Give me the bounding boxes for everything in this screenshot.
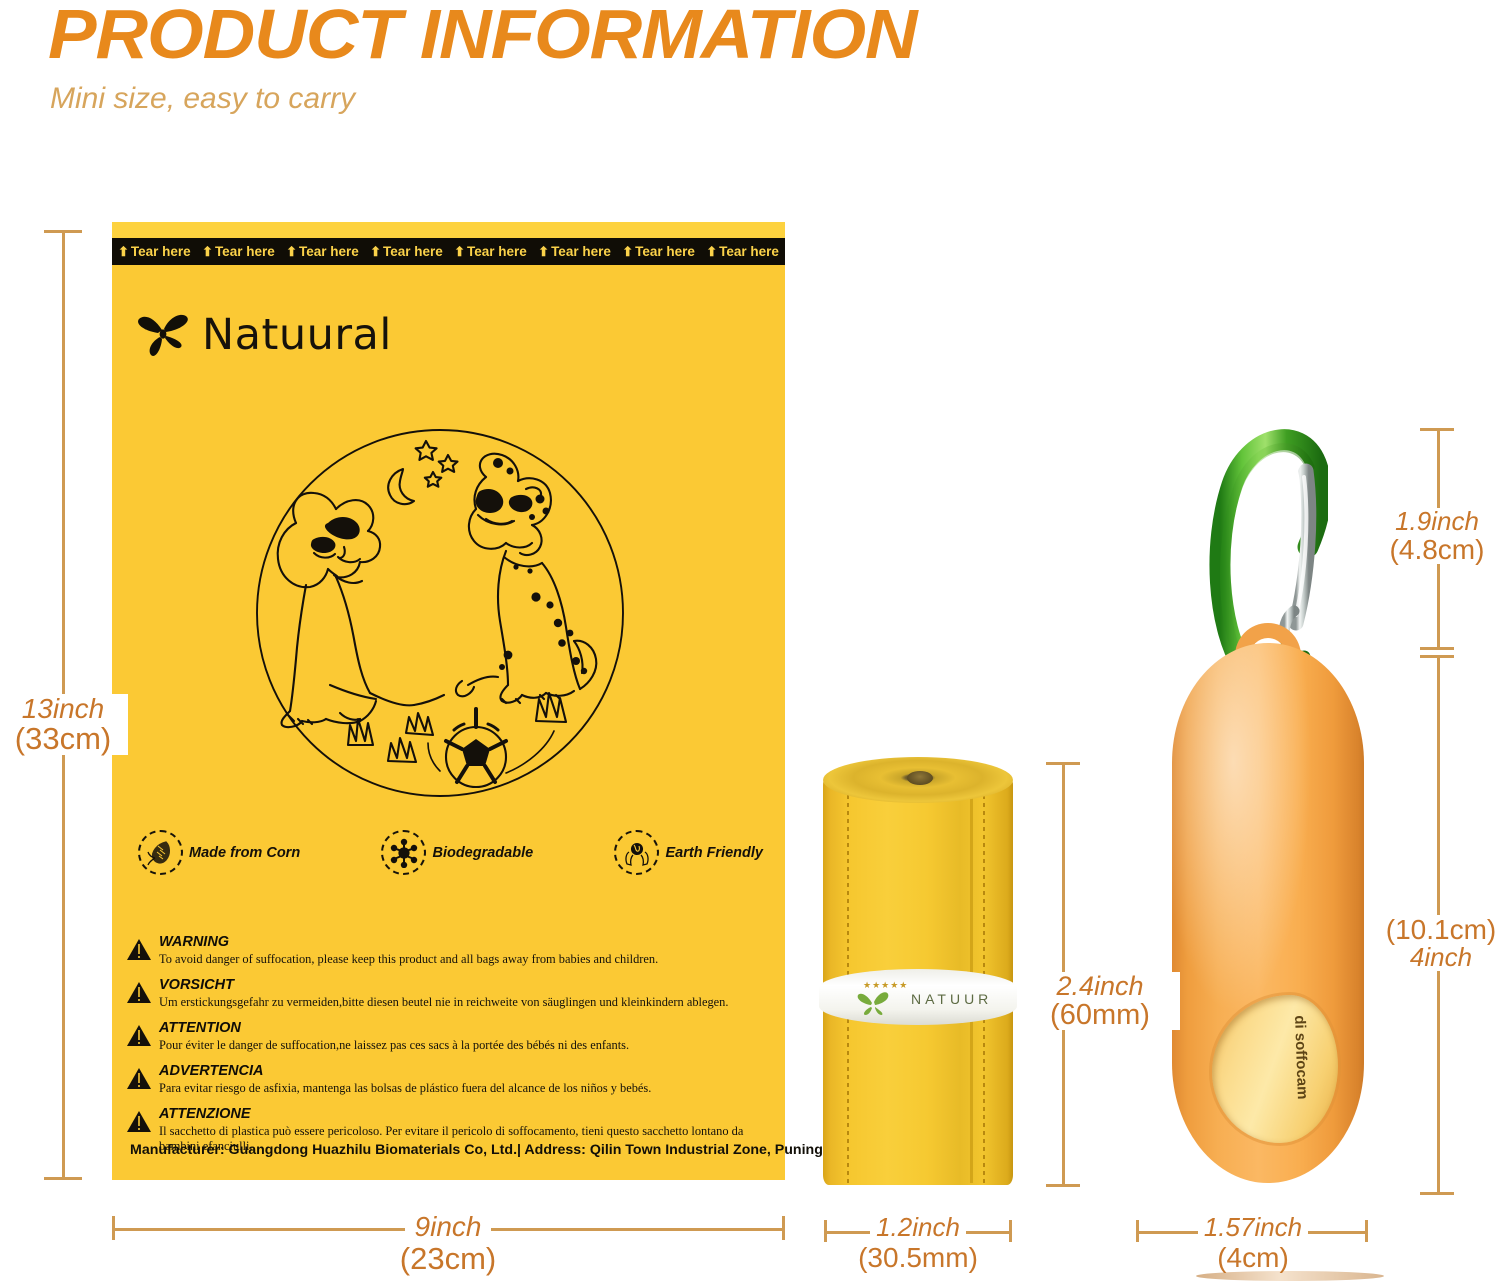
- dim-inch: 13inch: [0, 694, 128, 723]
- warning-body: Pour éviter le danger de suffocation,ne …: [159, 1038, 629, 1053]
- roll-brand-band: ★★★★★ NATUUR: [819, 969, 1017, 1025]
- two-dogs-illustration: [240, 427, 640, 799]
- tear-here-item: ⬆ Tear here: [706, 244, 779, 259]
- molecule-icon: [389, 838, 419, 868]
- dimension-label-package-width: 9inch (23cm): [358, 1212, 538, 1275]
- brand-name: Natuural: [202, 310, 392, 360]
- tear-here-item: ⬆ Tear here: [538, 244, 611, 259]
- dispenser-opening-window: ddress: Qilin T di soffocam: [1212, 995, 1338, 1143]
- dimension-label-dispenser-width: 1.57inch (4cm): [1158, 1214, 1348, 1272]
- warning-triangle-icon: [126, 1106, 152, 1138]
- badge-label: Earth Friendly: [665, 845, 763, 861]
- dimension-cap: [1420, 1192, 1454, 1195]
- dimension-cap: [1046, 1184, 1080, 1187]
- warning-row: VORSICHT Um erstickungsgefahr zu vermeid…: [126, 977, 771, 1010]
- warning-triangle-icon: [126, 1063, 152, 1095]
- butterfly-leaf-logo-icon: [136, 311, 192, 359]
- dim-metric: (23cm): [358, 1243, 538, 1275]
- dimension-cap: [1009, 1220, 1012, 1242]
- green-leaf-icon: [857, 989, 889, 1015]
- dim-metric: (60mm): [1020, 1000, 1180, 1030]
- dimension-cap: [1046, 762, 1080, 765]
- badge-circle: [381, 830, 426, 875]
- warning-heading: WARNING: [159, 934, 658, 951]
- dimension-cap: [1136, 1220, 1139, 1242]
- warning-triangle-icon: [126, 934, 152, 966]
- warning-heading: ATTENZIONE: [159, 1106, 771, 1123]
- dim-metric: (4.8cm): [1374, 535, 1500, 564]
- dim-inch: 9inch: [405, 1212, 492, 1241]
- badge-circle: [614, 830, 659, 875]
- warning-row: ADVERTENCIA Para evitar riesgo de asfixi…: [126, 1063, 771, 1096]
- tear-here-label: Tear here: [635, 244, 695, 259]
- dim-inch: 1.2inch: [870, 1214, 966, 1241]
- tear-here-label: Tear here: [131, 244, 191, 259]
- dimension-label-clip-height: 1.9inch (4.8cm): [1374, 508, 1500, 564]
- tear-here-item: ⬆ Tear here: [622, 244, 695, 259]
- badge-biodegradable: Biodegradable: [381, 830, 533, 875]
- up-arrow-icon: ⬆: [286, 245, 297, 258]
- warning-body: Um erstickungsgefahr zu vermeiden,bitte …: [159, 995, 728, 1010]
- warning-row: WARNING To avoid danger of suffocation, …: [126, 934, 771, 967]
- roll-spiral-top: [823, 757, 1013, 803]
- dim-metric: (33cm): [0, 723, 128, 755]
- warning-row: ATTENTION Pour éviter le danger de suffo…: [126, 1020, 771, 1053]
- window-text-line-2: di soffocam: [1291, 1015, 1311, 1100]
- up-arrow-icon: ⬆: [202, 245, 213, 258]
- badge-earth-friendly: Earth Friendly: [614, 830, 763, 875]
- warning-heading: ATTENTION: [159, 1020, 629, 1037]
- tear-here-label: Tear here: [467, 244, 527, 259]
- tear-here-label: Tear here: [719, 244, 779, 259]
- page-title: PRODUCT INFORMATION: [48, 0, 917, 74]
- warning-body: Para evitar riesgo de asfixia, mantenga …: [159, 1081, 651, 1096]
- badge-circle: [138, 830, 183, 875]
- warning-triangle-icon: [126, 1020, 152, 1052]
- brand-logo: Natuural: [136, 310, 392, 360]
- dim-metric: (30.5mm): [838, 1243, 998, 1272]
- up-arrow-icon: ⬆: [622, 245, 633, 258]
- badge-label: Made from Corn: [189, 845, 300, 861]
- warning-heading: ADVERTENCIA: [159, 1063, 651, 1080]
- tear-here-label: Tear here: [551, 244, 611, 259]
- dim-inch: 4inch: [1378, 944, 1500, 971]
- roll-brand-text: NATUUR: [911, 991, 992, 1007]
- dimension-label-roll-width: 1.2inch (30.5mm): [838, 1214, 998, 1272]
- bag-dispenser: ddress: Qilin T di soffocam: [1150, 415, 1390, 1197]
- up-arrow-icon: ⬆: [118, 245, 129, 258]
- dimension-cap: [44, 1177, 82, 1180]
- product-package-bag: ⬆ Tear here ⬆ Tear here ⬆ Tear here ⬆ Te…: [112, 222, 785, 1180]
- dimension-cap: [824, 1220, 827, 1242]
- up-arrow-icon: ⬆: [454, 245, 465, 258]
- warning-heading: VORSICHT: [159, 977, 728, 994]
- tear-here-item: ⬆ Tear here: [202, 244, 275, 259]
- corn-icon: [146, 838, 176, 868]
- dim-inch: 2.4inch: [1020, 972, 1180, 1000]
- tear-here-label: Tear here: [383, 244, 443, 259]
- dimension-cap: [1420, 428, 1454, 431]
- dim-metric: (10.1cm): [1378, 915, 1500, 944]
- dim-inch: 1.9inch: [1374, 508, 1500, 535]
- dim-metric: (4cm): [1158, 1243, 1348, 1272]
- warning-triangle-icon: [126, 977, 152, 1009]
- up-arrow-icon: ⬆: [538, 245, 549, 258]
- roll-core-hole: [907, 771, 933, 785]
- dimension-cap: [1365, 1220, 1368, 1242]
- tear-here-label: Tear here: [299, 244, 359, 259]
- tear-here-label: Tear here: [215, 244, 275, 259]
- dispenser-body: ddress: Qilin T di soffocam: [1172, 643, 1364, 1183]
- dim-inch: 1.57inch: [1198, 1214, 1308, 1241]
- header: PRODUCT INFORMATION Mini size, easy to c…: [0, 0, 1500, 140]
- tear-here-item: ⬆ Tear here: [118, 244, 191, 259]
- warnings-block: WARNING To avoid danger of suffocation, …: [126, 934, 771, 1164]
- hands-earth-icon: [622, 838, 652, 868]
- tear-here-strip: ⬆ Tear here ⬆ Tear here ⬆ Tear here ⬆ Te…: [112, 238, 785, 265]
- dimension-cap: [782, 1216, 785, 1240]
- badge-made-from-corn: Made from Corn: [138, 830, 300, 875]
- tear-here-item: ⬆ Tear here: [370, 244, 443, 259]
- package-top-edge: [112, 222, 785, 238]
- page-subtitle: Mini size, easy to carry: [50, 82, 355, 116]
- dimension-label-package-height: 13inch (33cm): [0, 694, 128, 755]
- dimension-label-roll-height: 2.4inch (60mm): [1020, 972, 1180, 1030]
- up-arrow-icon: ⬆: [370, 245, 381, 258]
- tear-here-item: ⬆ Tear here: [286, 244, 359, 259]
- dimension-cap: [112, 1216, 115, 1240]
- badge-label: Biodegradable: [432, 845, 533, 861]
- up-arrow-icon: ⬆: [706, 245, 717, 258]
- dimension-cap: [1420, 647, 1454, 650]
- feature-badges: Made from Corn Biodegradable: [138, 830, 763, 875]
- warning-body: To avoid danger of suffocation, please k…: [159, 952, 658, 967]
- bag-roll: ★★★★★ NATUUR: [823, 757, 1013, 1191]
- tear-here-item: ⬆ Tear here: [454, 244, 527, 259]
- dimension-cap: [1420, 655, 1454, 658]
- dimension-label-dispenser-height: (10.1cm) 4inch: [1378, 915, 1500, 971]
- dimension-cap: [44, 230, 82, 233]
